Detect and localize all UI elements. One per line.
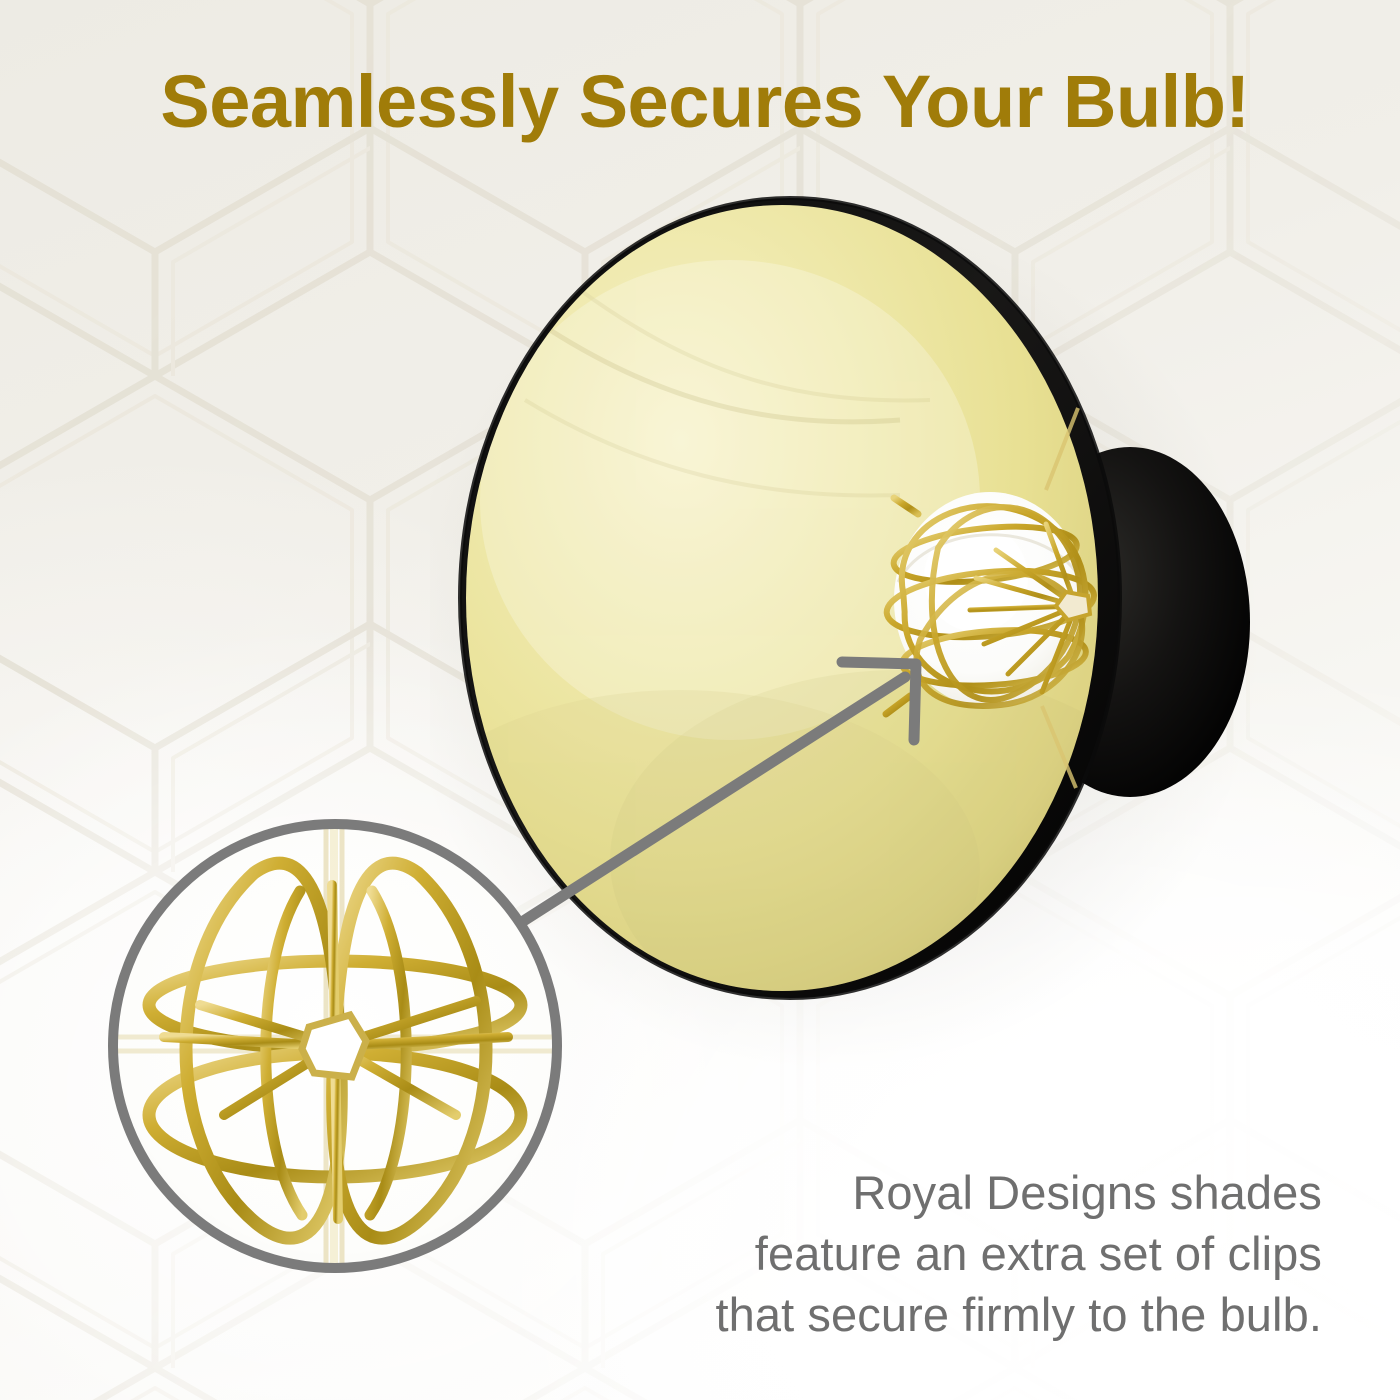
- page-title: Seamlessly Secures Your Bulb!: [110, 62, 1300, 142]
- caption-line-3: that secure firmly to the bulb.: [562, 1284, 1322, 1345]
- caption-line-2: feature an extra set of clips: [562, 1223, 1322, 1284]
- caption-line-1: Royal Designs shades: [562, 1162, 1322, 1223]
- promo-graphic: Seamlessly Secures Your Bulb!: [0, 0, 1400, 1400]
- detail-inset-circle: [104, 815, 566, 1277]
- caption-text: Royal Designs shades feature an extra se…: [562, 1162, 1322, 1345]
